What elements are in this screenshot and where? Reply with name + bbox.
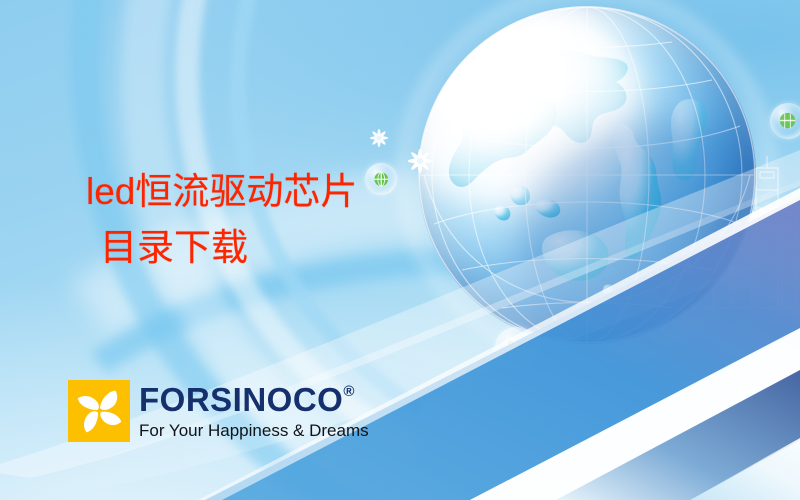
company-logo: FORSINOCO® For Your Happiness & Dreams: [68, 380, 369, 442]
headline-line-2: 目录下载: [86, 220, 546, 276]
logo-company-name-text: FORSINOCO: [139, 383, 343, 416]
logo-tagline: For Your Happiness & Dreams: [139, 422, 369, 439]
logo-text-block: FORSINOCO® For Your Happiness & Dreams: [139, 383, 369, 439]
headline-line-1: led恒流驱动芯片: [86, 164, 546, 220]
headline: led恒流驱动芯片 目录下载: [86, 164, 546, 276]
promo-banner: led恒流驱动芯片 目录下载 FORSINOCO® For Your Happi…: [0, 0, 800, 500]
four-petal-pinwheel-icon: [68, 380, 130, 442]
logo-company-name: FORSINOCO®: [139, 383, 369, 416]
registered-trademark-icon: ®: [343, 384, 355, 399]
